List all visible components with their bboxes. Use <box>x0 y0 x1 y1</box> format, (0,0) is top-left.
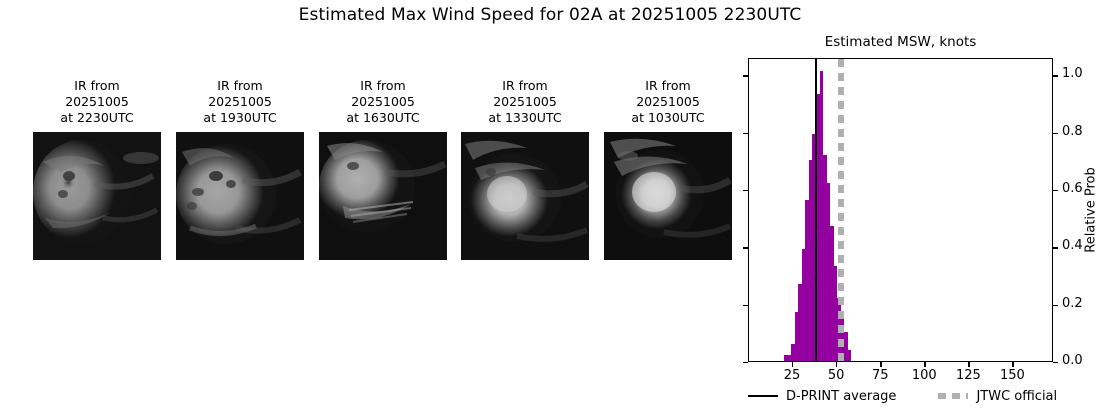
ir-panel-2: IR from 20251005 at 1630UTC <box>319 78 447 260</box>
y-axis-tick-left <box>743 75 748 76</box>
x-axis-tick-label: 125 <box>943 368 993 383</box>
y-axis-tick <box>1053 75 1058 76</box>
y-axis-tick-label: 0.4 <box>1062 238 1083 253</box>
y-axis-tick-left <box>743 190 748 191</box>
x-axis-tick-label: 50 <box>811 368 861 383</box>
ir-panel-caption: IR from 20251005 at 1630UTC <box>319 78 447 126</box>
y-axis-tick <box>1053 133 1058 134</box>
page-title: Estimated Max Wind Speed for 02A at 2025… <box>0 5 1100 25</box>
y-axis-tick-left <box>743 362 748 363</box>
chart-subtitle: Estimated MSW, knots <box>748 34 1053 50</box>
x-axis-tick-label: 100 <box>899 368 949 383</box>
x-axis-tick-label: 25 <box>767 368 817 383</box>
x-axis-tick <box>968 362 969 367</box>
y-axis-tick <box>1053 247 1058 248</box>
x-axis-tick <box>924 362 925 367</box>
y-axis-tick-label: 0.6 <box>1062 181 1083 196</box>
x-axis-tick <box>880 362 881 367</box>
chart-plot-area <box>748 58 1053 362</box>
y-axis-tick <box>1053 362 1058 363</box>
ir-panel-1: IR from 20251005 at 1930UTC <box>176 78 304 260</box>
ir-panel-caption: IR from 20251005 at 1330UTC <box>461 78 589 126</box>
dprint-average-line <box>815 59 817 361</box>
jtwc-official-line <box>838 59 844 361</box>
x-axis-tick-label: 150 <box>987 368 1037 383</box>
y-axis-tick <box>1053 305 1058 306</box>
ir-panel-caption: IR from 20251005 at 1030UTC <box>604 78 732 126</box>
y-axis-tick <box>1053 190 1058 191</box>
ir-panel-0: IR from 20251005 at 2230UTC <box>33 78 161 260</box>
x-axis-tick <box>792 362 793 367</box>
y-axis-tick-label: 0.8 <box>1062 124 1083 139</box>
y-axis-tick-left <box>743 305 748 306</box>
y-axis-tick-label: 1.0 <box>1062 66 1083 81</box>
figure-root: Estimated Max Wind Speed for 02A at 2025… <box>0 0 1100 409</box>
dotted-line-icon <box>938 393 968 399</box>
ir-panel-4: IR from 20251005 at 1030UTC <box>604 78 732 260</box>
legend-entry-jtwc: JTWC official <box>938 389 1057 404</box>
y-axis-tick-left <box>743 133 748 134</box>
chart-legend: D-PRINT average JTWC official <box>748 386 1078 406</box>
x-axis-tick <box>1012 362 1013 367</box>
histogram-chart: 2550751001251500.00.20.40.60.81.0 Relati… <box>748 58 1053 362</box>
legend-label-jtwc: JTWC official <box>976 389 1057 404</box>
solid-line-icon <box>748 395 778 397</box>
legend-entry-dprint: D-PRINT average <box>748 389 896 404</box>
ir-panel-3: IR from 20251005 at 1330UTC <box>461 78 589 260</box>
ir-satellite-image <box>461 132 589 260</box>
ir-satellite-image <box>604 132 732 260</box>
y-axis-tick-label: 0.0 <box>1062 353 1083 368</box>
x-axis-tick <box>836 362 837 367</box>
ir-satellite-image <box>33 132 161 260</box>
y-axis-tick-left <box>743 247 748 248</box>
histogram-bar <box>848 350 852 361</box>
ir-panel-caption: IR from 20251005 at 2230UTC <box>33 78 161 126</box>
y-axis-tick-label: 0.2 <box>1062 296 1083 311</box>
ir-panel-caption: IR from 20251005 at 1930UTC <box>176 78 304 126</box>
ir-satellite-image <box>319 132 447 260</box>
y-axis-label: Relative Prob <box>1084 167 1099 252</box>
x-axis-tick-label: 75 <box>855 368 905 383</box>
ir-satellite-image <box>176 132 304 260</box>
legend-label-dprint: D-PRINT average <box>786 389 896 404</box>
